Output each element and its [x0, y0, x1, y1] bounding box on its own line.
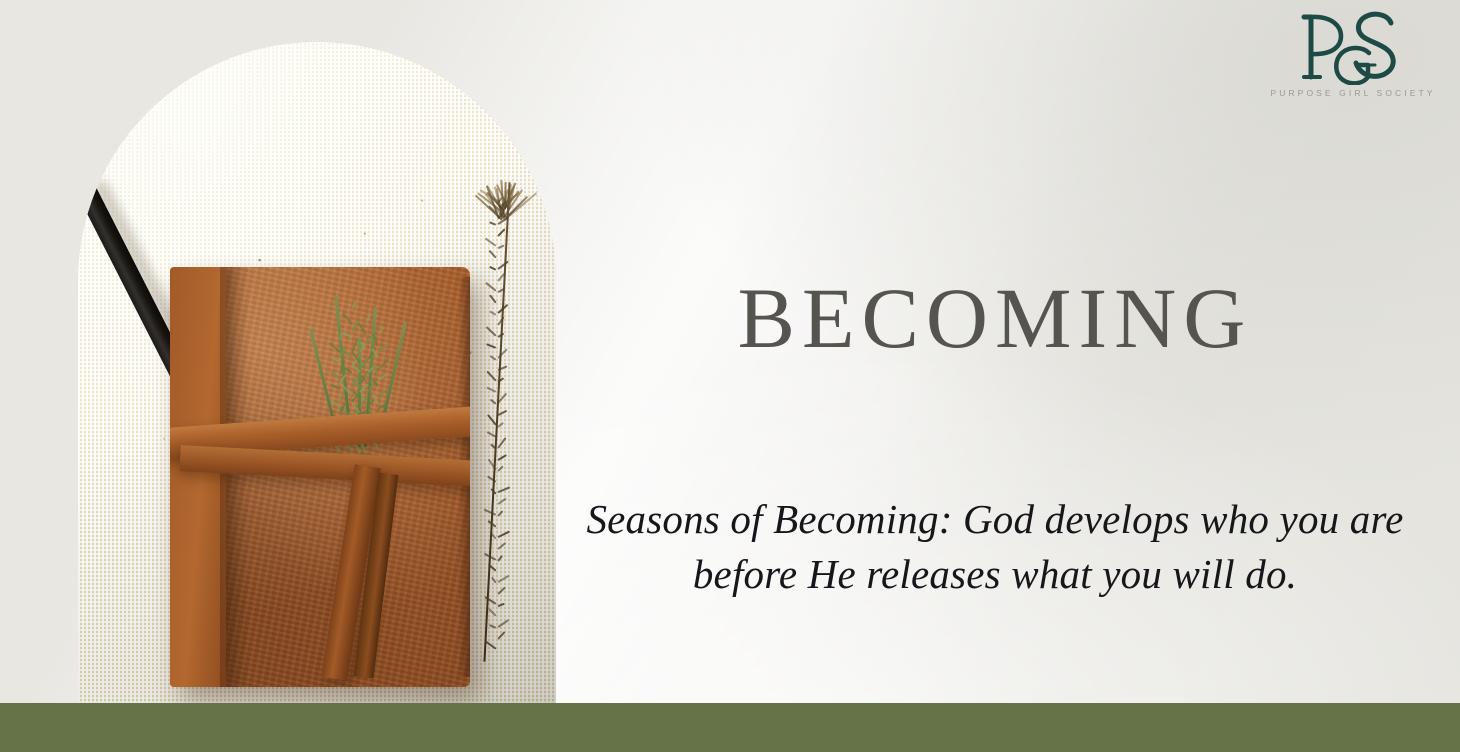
dried-leaf — [497, 487, 510, 493]
dried-leaf — [497, 555, 503, 561]
dried-leaf — [497, 498, 506, 505]
journal-spine-shadow — [220, 267, 250, 687]
page-title: BECOMING — [600, 275, 1390, 361]
dried-leaf — [497, 586, 505, 594]
dried-leaf — [497, 410, 507, 416]
dried-herb-sprig — [470, 182, 540, 662]
dried-leaf — [486, 370, 496, 381]
dried-leaf — [498, 602, 505, 606]
slide-canvas: BECOMING Seasons of Becoming: God develo… — [0, 0, 1460, 752]
dried-leaf — [489, 295, 496, 304]
hero-photo — [78, 42, 556, 703]
dried-leaf — [497, 542, 506, 550]
rosemary-needle — [377, 327, 384, 335]
dried-leaf — [489, 625, 496, 629]
dried-leaf — [497, 510, 503, 516]
pgs-monogram-icon — [1268, 6, 1438, 86]
dried-leaf — [497, 531, 509, 538]
dried-leaf — [486, 387, 496, 393]
dried-leaf — [497, 619, 509, 628]
rosemary-needle — [339, 331, 343, 340]
dried-leaf — [497, 466, 503, 472]
dried-leaf — [486, 343, 496, 348]
pencil-graphite-tip — [78, 161, 79, 172]
dried-leaf — [489, 311, 496, 316]
dried-tuft — [480, 176, 524, 216]
dried-leaf — [497, 454, 506, 461]
pgs-monogram-svg — [1293, 7, 1413, 85]
page-subtitle: Seasons of Becoming: God develops who yo… — [580, 492, 1410, 603]
brand-tagline: PURPOSE GIRL SOCIETY — [1268, 88, 1438, 98]
dried-leaf — [497, 228, 505, 236]
dried-leaf — [489, 250, 497, 258]
dried-leaf — [489, 222, 496, 226]
rosemary-needle — [358, 323, 367, 336]
dried-leaf — [497, 244, 504, 248]
rosemary-needle — [343, 332, 352, 339]
rosemary-needle — [377, 374, 387, 382]
dried-leaf — [487, 415, 496, 426]
dried-leaf — [491, 577, 496, 584]
dried-stem — [483, 182, 510, 661]
dried-leaf — [490, 355, 497, 360]
journal-front-flap — [170, 267, 226, 687]
rosemary-needle — [377, 344, 388, 353]
dried-leaf — [497, 575, 509, 583]
rosemary-needle — [342, 313, 353, 325]
dried-leaf — [484, 509, 497, 516]
dried-leaf — [490, 399, 496, 405]
leather-journal — [170, 267, 470, 687]
rosemary-needle — [351, 301, 356, 310]
footer-accent-bar — [0, 703, 1460, 752]
rosemary-needle — [331, 357, 341, 363]
dried-leaf — [485, 238, 497, 247]
dried-leaf — [488, 609, 496, 617]
dried-leaf — [497, 437, 506, 448]
dried-leaf — [486, 326, 497, 336]
photo-inner — [78, 42, 556, 703]
dried-leaf — [497, 260, 508, 269]
dried-leaf — [485, 282, 496, 291]
brand-logo[interactable]: PURPOSE GIRL SOCIETY — [1268, 6, 1438, 106]
rosemary-needle — [377, 358, 389, 370]
rosemary-needle — [331, 385, 340, 391]
dried-leaf — [497, 631, 505, 639]
dried-leaf — [497, 422, 503, 428]
rosemary-needle — [365, 314, 371, 323]
dried-leaf — [485, 641, 496, 650]
dried-leaf — [489, 266, 496, 271]
